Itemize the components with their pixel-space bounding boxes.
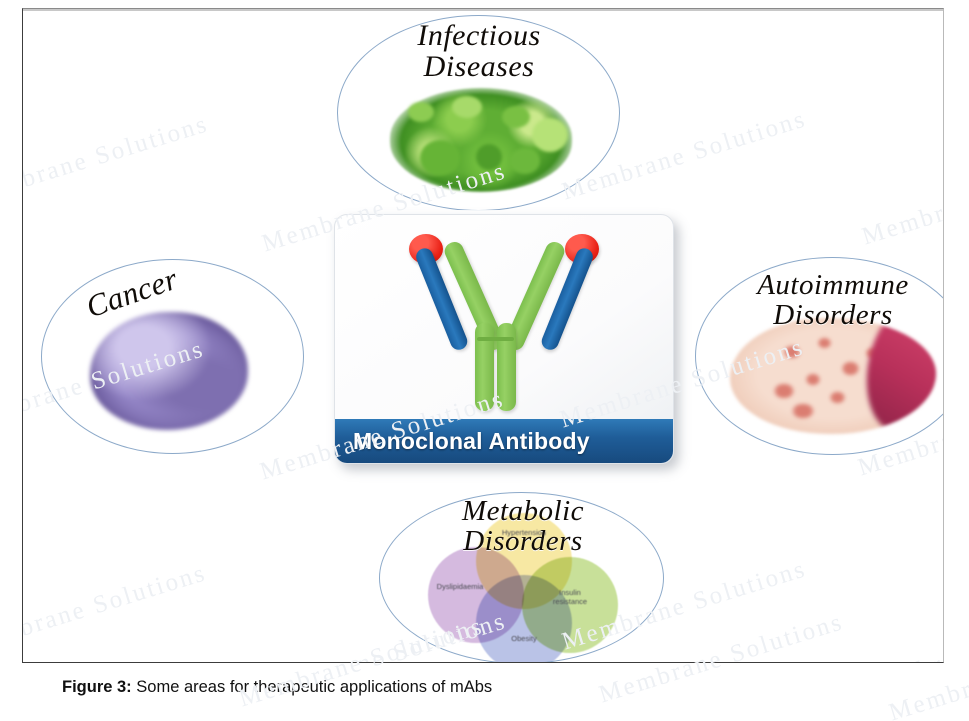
watermark-text: Membrane Solutions bbox=[857, 601, 943, 662]
infectious-diseases-image bbox=[390, 88, 572, 192]
node-infectious-diseases-label: Infectious Diseases bbox=[363, 21, 595, 82]
watermark-text: Membrane Solutions bbox=[23, 110, 212, 211]
venn-label-insulin-resistance: Insulin resistance bbox=[538, 589, 602, 607]
monoclonal-antibody-banner: Monoclonal Antibody bbox=[335, 419, 673, 463]
node-monoclonal-antibody[interactable]: Monoclonal Antibody bbox=[334, 214, 674, 464]
cancer-cell-image bbox=[90, 312, 248, 430]
antibody-diagram bbox=[335, 215, 673, 419]
venn-circle-dyslipidaemia bbox=[428, 547, 524, 643]
node-metabolic-disorders-label: Metabolic Disorders bbox=[407, 497, 639, 556]
figure-caption-label: Figure 3: bbox=[62, 678, 132, 696]
figure-caption-text: Some areas for therapeutic applications … bbox=[132, 678, 492, 696]
watermark-text: Membrane Solutions bbox=[23, 559, 210, 660]
autoimmune-skin-image bbox=[730, 318, 936, 434]
node-autoimmune-disorders-label: Autoimmune Disorders bbox=[717, 271, 944, 330]
watermark-text: Membrane Solutions bbox=[859, 150, 943, 251]
disulfide-bond bbox=[477, 337, 514, 341]
figure-page: Infectious Diseases Cancer Autoimmune Di… bbox=[0, 0, 969, 721]
monoclonal-antibody-banner-label: Monoclonal Antibody bbox=[353, 428, 590, 455]
venn-label-dyslipidaemia: Dyslipidaemia bbox=[428, 583, 492, 592]
figure-caption: Figure 3: Some areas for therapeutic app… bbox=[62, 678, 492, 697]
venn-label-obesity: Obesity bbox=[492, 635, 556, 644]
figure-frame: Infectious Diseases Cancer Autoimmune Di… bbox=[22, 8, 944, 663]
